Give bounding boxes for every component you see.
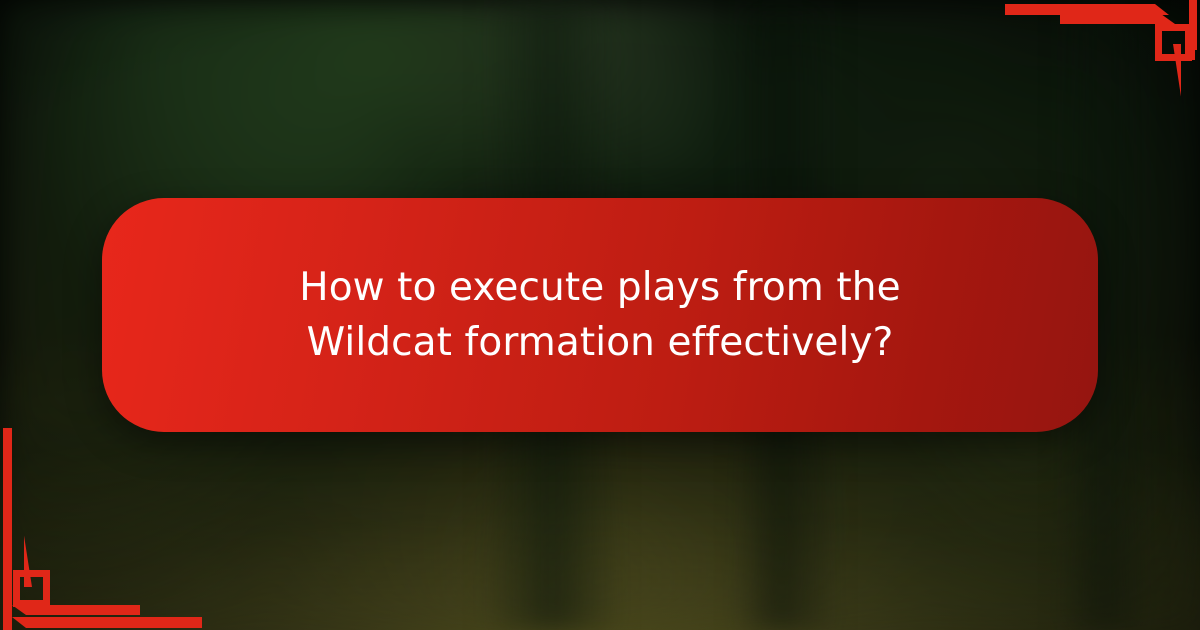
ornament-short-horizontal-bar <box>12 605 140 615</box>
ornament-long-horizontal-bar <box>12 617 202 628</box>
share-card-canvas: How to execute plays from the Wildcat fo… <box>0 0 1200 630</box>
ornament-outlined-square <box>13 570 50 607</box>
ornament-short-horizontal-bar <box>1060 14 1175 24</box>
ornament-long-horizontal-bar <box>1005 4 1169 15</box>
ornament-left-vertical-bar <box>3 428 12 630</box>
title-card: How to execute plays from the Wildcat fo… <box>102 198 1098 432</box>
page-title: How to execute plays from the Wildcat fo… <box>229 260 971 371</box>
ornament-right-vertical-bar <box>1189 0 1197 50</box>
ornament-square-connector <box>1185 50 1195 60</box>
